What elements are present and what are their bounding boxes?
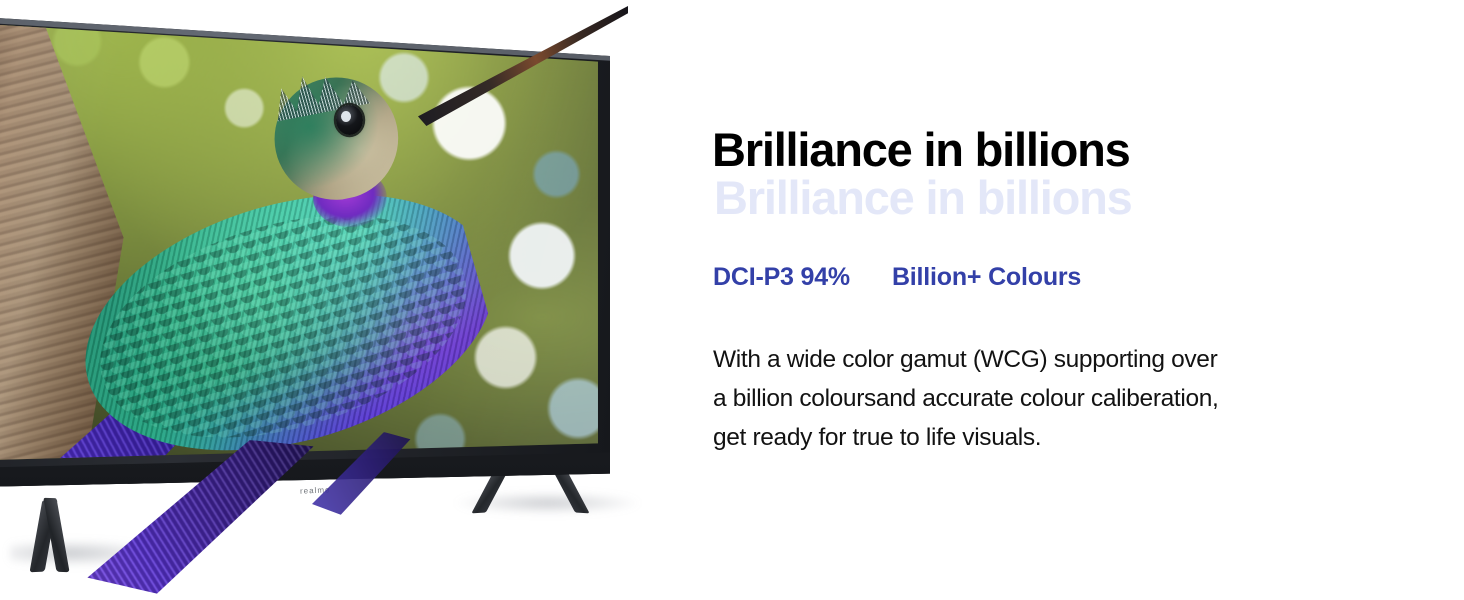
copy-block: Brilliance in billions Brilliance in bil… (712, 0, 1412, 600)
spec-billion-colours: Billion+ Colours (892, 263, 1081, 292)
promo-banner: realme Brilliance in billions Brilliance… (0, 0, 1464, 600)
spec-dci-p3: DCI-P3 94% (713, 263, 850, 292)
hummingbird-eye-glint (341, 111, 351, 122)
spec-highlights: DCI-P3 94% Billion+ Colours (713, 263, 1081, 292)
description-paragraph: With a wide color gamut (WCG) supporting… (713, 340, 1385, 457)
description-line-2: a billion coloursand accurate colour cal… (713, 379, 1385, 418)
hummingbird (0, 18, 602, 473)
tv-product-image: realme (0, 0, 660, 600)
page-title: Brilliance in billions (712, 122, 1130, 177)
description-line-3: get ready for true to life visuals. (713, 418, 1385, 457)
description-line-1: With a wide color gamut (WCG) supporting… (713, 340, 1385, 379)
tv-chassis (0, 8, 610, 488)
headline-ghost-text: Brilliance in billions (714, 170, 1132, 225)
tv-screen (0, 18, 602, 473)
hummingbird-head (254, 60, 412, 213)
